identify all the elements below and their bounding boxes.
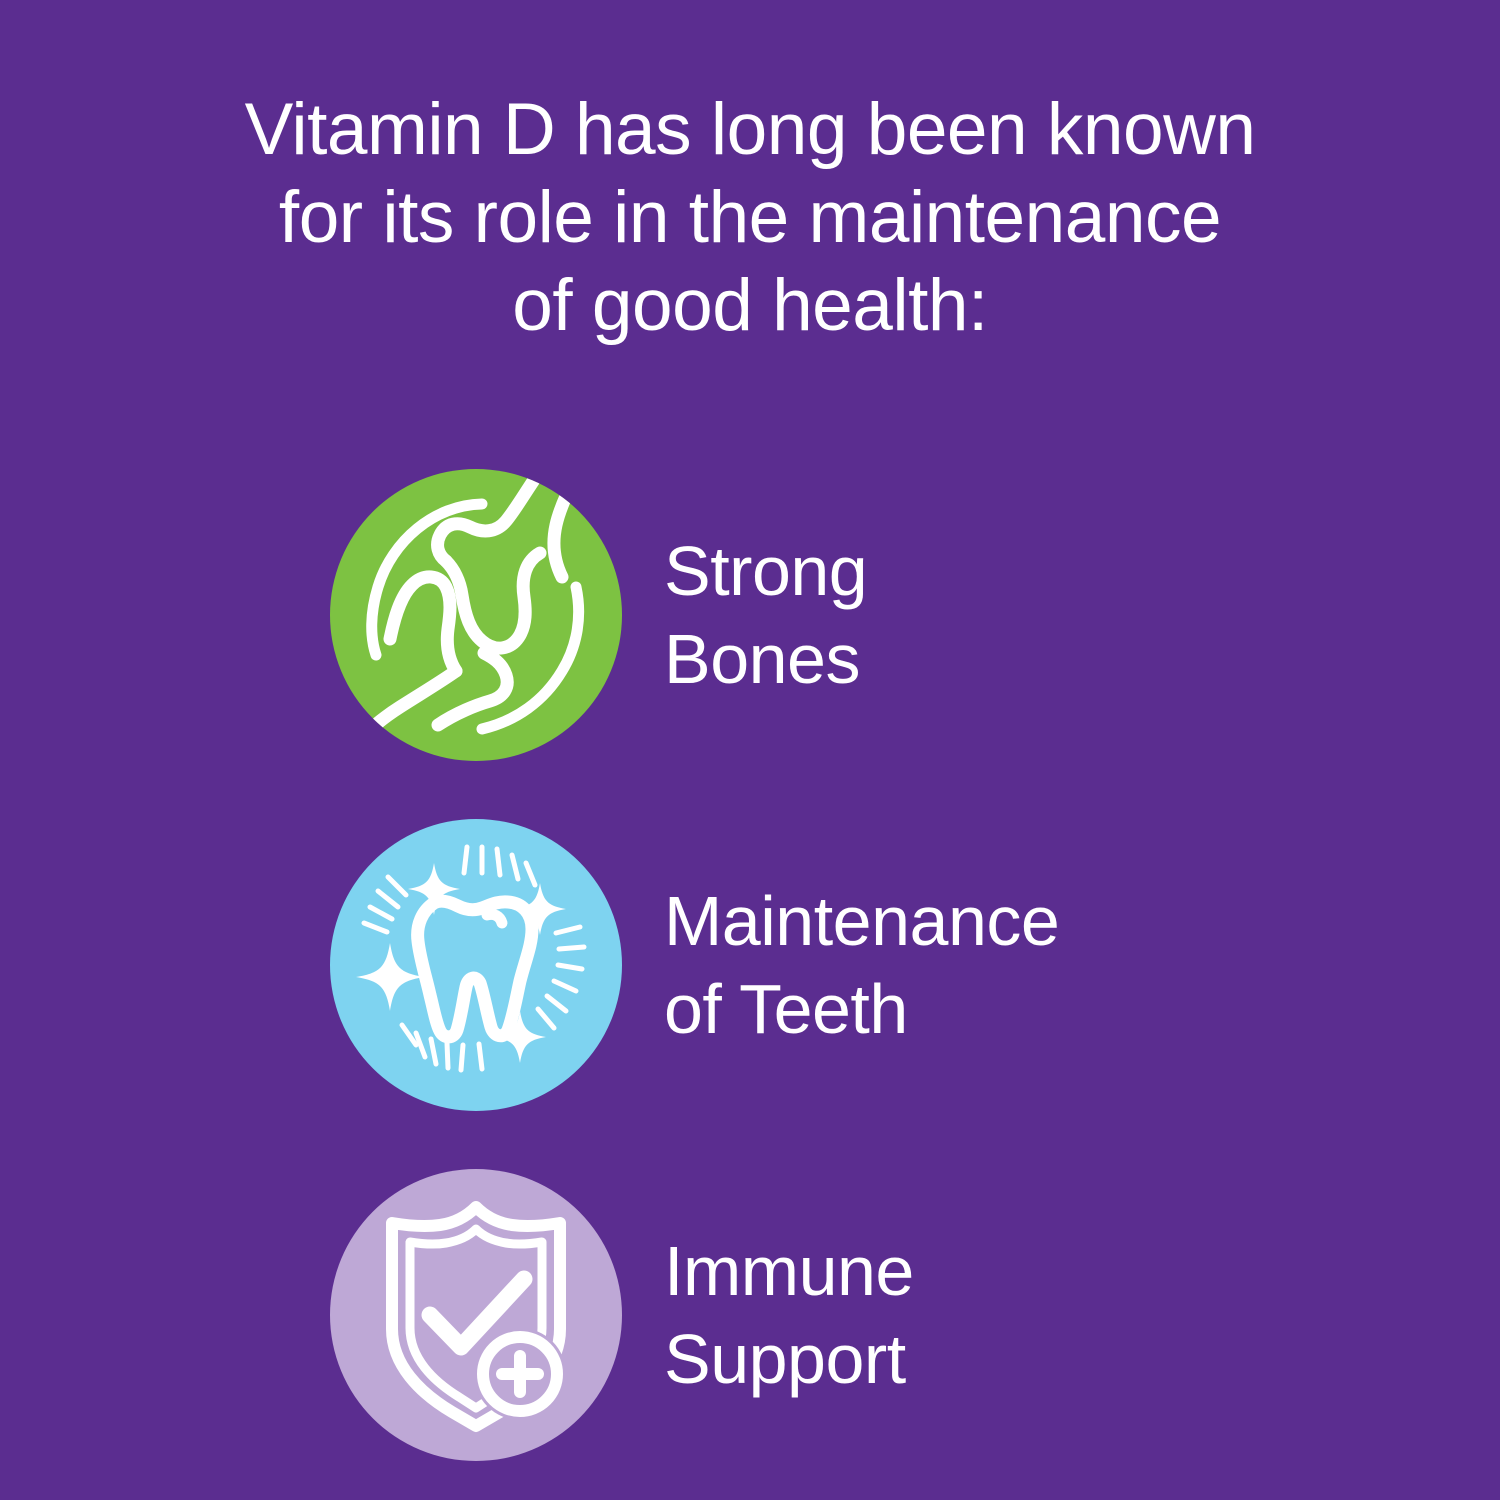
infographic-page: Vitamin D has long been known for its ro… [0, 0, 1500, 1500]
shield-check-plus-icon [330, 1169, 622, 1461]
sparkling-tooth-icon [330, 819, 622, 1111]
benefit-label-strong-bones: Strong Bones [664, 527, 867, 703]
page-title: Vitamin D has long been known for its ro… [120, 86, 1380, 350]
benefits-list: Strong Bones [0, 440, 1500, 1490]
benefit-item-maintenance-of-teeth: Maintenance of Teeth [0, 790, 1500, 1140]
benefit-label-immune-support: Immune Support [664, 1227, 914, 1403]
bone-joint-icon [330, 469, 622, 761]
benefit-item-strong-bones: Strong Bones [0, 440, 1500, 790]
benefit-label-maintenance-of-teeth: Maintenance of Teeth [664, 877, 1059, 1053]
benefit-item-immune-support: Immune Support [0, 1140, 1500, 1490]
